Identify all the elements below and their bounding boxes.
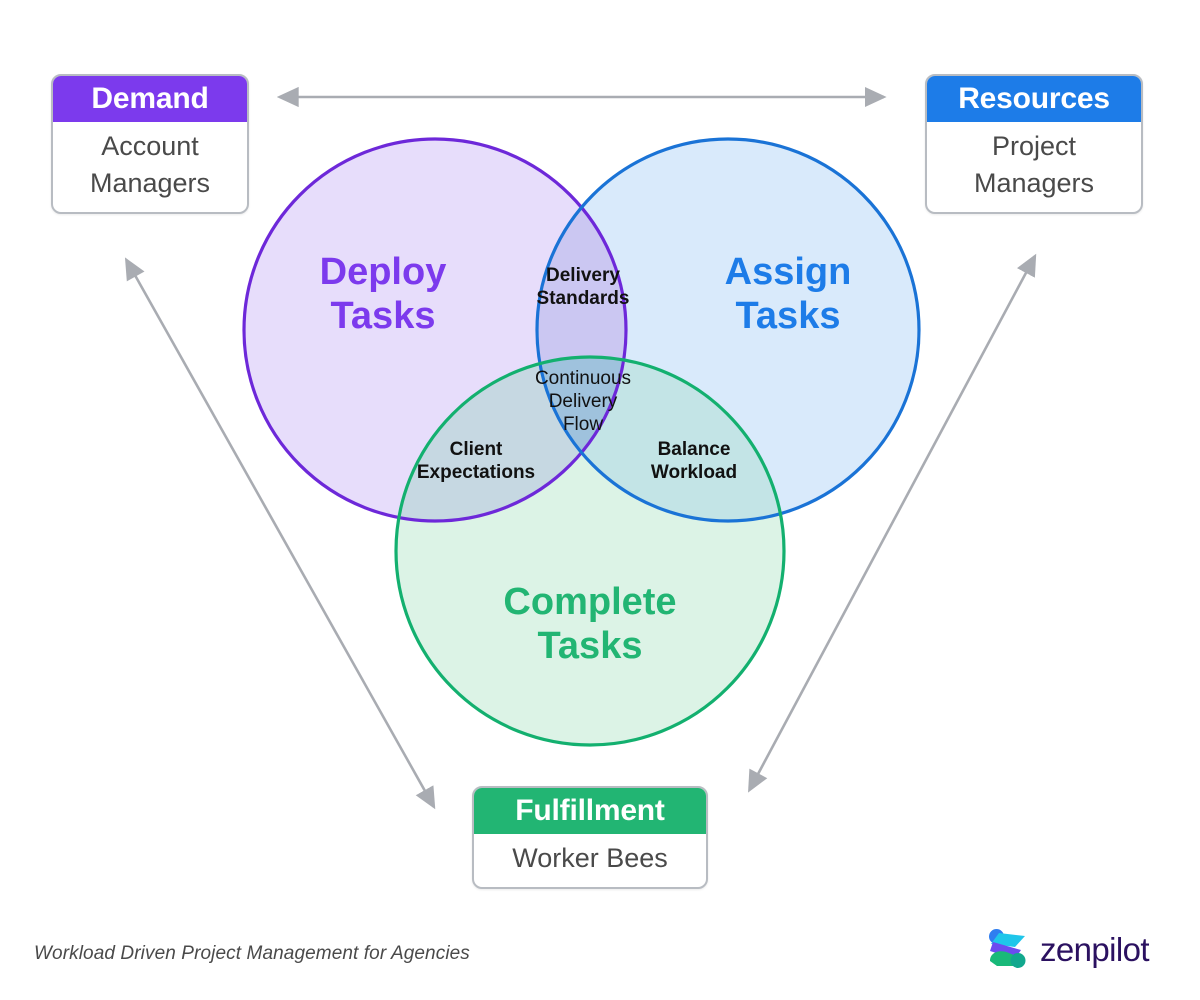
role-demand-line2: Managers bbox=[63, 165, 237, 202]
brand-wordmark: zenpilot bbox=[1040, 933, 1149, 966]
role-resources-line2: Managers bbox=[937, 165, 1131, 202]
role-body-fulfillment: Worker Bees bbox=[474, 834, 706, 887]
role-box-resources[interactable]: Resources Project Managers bbox=[925, 74, 1143, 214]
role-box-fulfillment[interactable]: Fulfillment Worker Bees bbox=[472, 786, 708, 889]
role-demand-line1: Account bbox=[63, 128, 237, 165]
brand-logo[interactable]: zenpilot bbox=[985, 928, 1149, 970]
zenpilot-mark-icon bbox=[985, 928, 1031, 970]
footer-caption: Workload Driven Project Management for A… bbox=[34, 943, 470, 965]
role-header-fulfillment: Fulfillment bbox=[474, 788, 706, 834]
role-header-resources: Resources bbox=[927, 76, 1141, 122]
role-body-demand: Account Managers bbox=[53, 122, 247, 212]
role-fulfillment-line1: Worker Bees bbox=[484, 840, 696, 877]
role-body-resources: Project Managers bbox=[927, 122, 1141, 212]
role-resources-line1: Project bbox=[937, 128, 1131, 165]
diagram-canvas: Deploy Tasks Assign Tasks Complete Tasks… bbox=[0, 0, 1200, 1000]
role-header-demand: Demand bbox=[53, 76, 247, 122]
role-box-demand[interactable]: Demand Account Managers bbox=[51, 74, 249, 214]
